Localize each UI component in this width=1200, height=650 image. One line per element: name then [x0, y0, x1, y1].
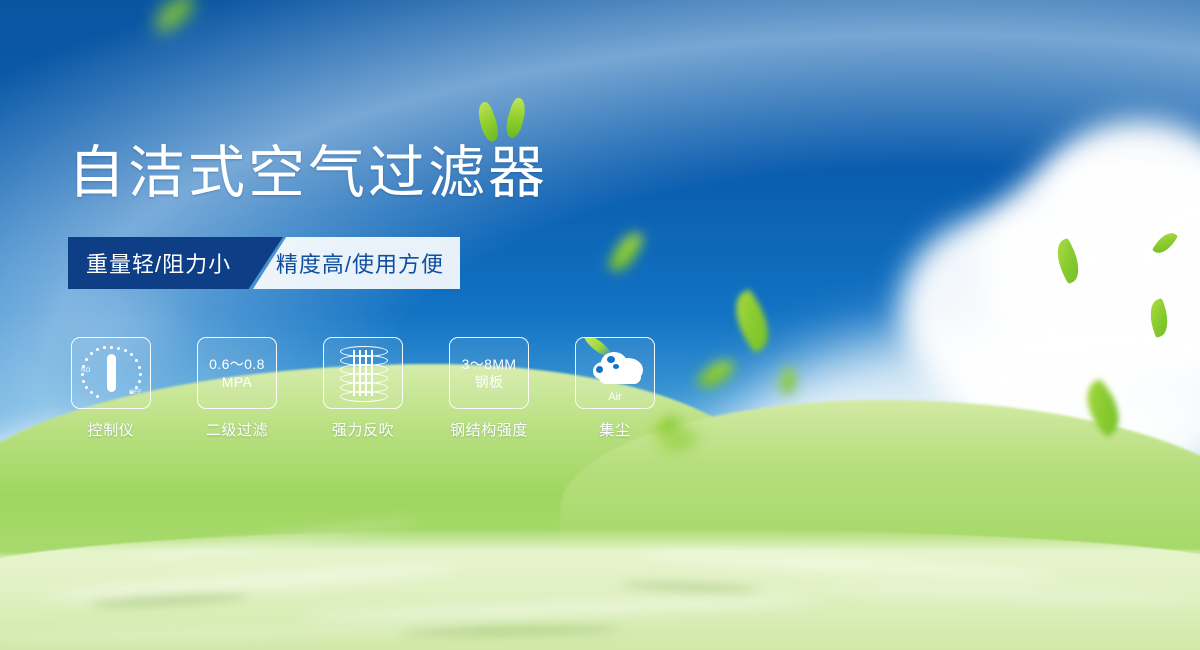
- air-cloud-icon: Air: [583, 344, 647, 402]
- feature-label: 集尘: [599, 419, 630, 440]
- sprout-leaf-left: [474, 100, 503, 143]
- feature-label: 控制仪: [88, 419, 135, 440]
- cloud-puff-shape: [599, 370, 641, 384]
- steel-plate-text-icon: 3～8MM 钢板: [462, 355, 517, 391]
- subtitle-right-panel: 精度高/使用方便: [253, 237, 460, 289]
- filter-stack-icon: [340, 346, 386, 400]
- feature-icon-box: [323, 337, 403, 409]
- feature-label: 强力反吹: [332, 419, 394, 440]
- feature-item-backflush[interactable]: 强力反吹: [324, 337, 402, 440]
- feature-label: 二级过滤: [206, 419, 268, 440]
- air-label: Air: [583, 391, 647, 403]
- pressure-text-icon: 0.6～0.8 MPA: [209, 355, 265, 391]
- sprout-leaf-right: [502, 97, 530, 140]
- title-block: 自洁式空气过滤器: [68, 142, 548, 204]
- subtitle-right-text: 精度高/使用方便: [276, 247, 444, 279]
- feature-icon-box: 0.6～0.8 MPA: [197, 337, 277, 409]
- feature-item-controller[interactable]: NO OFF: [72, 337, 150, 440]
- feature-icon-box: NO OFF: [71, 337, 151, 409]
- product-hero-banner: 自洁式空气过滤器 重量轻/阻力小 精度高/使用方便 NO OFF: [0, 0, 1200, 650]
- pressure-unit: MPA: [209, 373, 265, 391]
- page-title: 自洁式空气过滤器: [68, 142, 548, 204]
- feature-icon-box: Air: [575, 337, 655, 409]
- feature-label: 钢结构强度: [450, 419, 528, 440]
- subtitle-bar: 重量轻/阻力小 精度高/使用方便: [68, 237, 460, 289]
- sprout-leaves-icon: [470, 96, 540, 148]
- banner-content: 自洁式空气过滤器 重量轻/阻力小 精度高/使用方便 NO OFF: [0, 0, 1200, 650]
- feature-list: NO OFF: [72, 337, 654, 440]
- cloud-notch: [613, 364, 619, 369]
- steel-material: 钢板: [462, 373, 517, 391]
- steel-thickness: 3～8MM: [462, 355, 517, 373]
- subtitle-left-panel: 重量轻/阻力小: [68, 237, 283, 289]
- feature-item-two-stage-filter[interactable]: 0.6～0.8 MPA 二级过滤: [198, 337, 276, 440]
- pressure-range: 0.6～0.8: [209, 355, 265, 373]
- feature-item-steel-strength[interactable]: 3～8MM 钢板 钢结构强度: [450, 337, 528, 440]
- cloud-notch: [607, 356, 615, 363]
- subtitle-left-text: 重量轻/阻力小: [86, 247, 231, 279]
- feature-icon-box: 3～8MM 钢板: [449, 337, 529, 409]
- gauge-needle: [107, 354, 116, 392]
- gauge-dial-icon: NO OFF: [81, 345, 141, 401]
- feature-item-dust-collection[interactable]: Air 集尘: [576, 337, 654, 440]
- cloud-notch: [596, 366, 603, 373]
